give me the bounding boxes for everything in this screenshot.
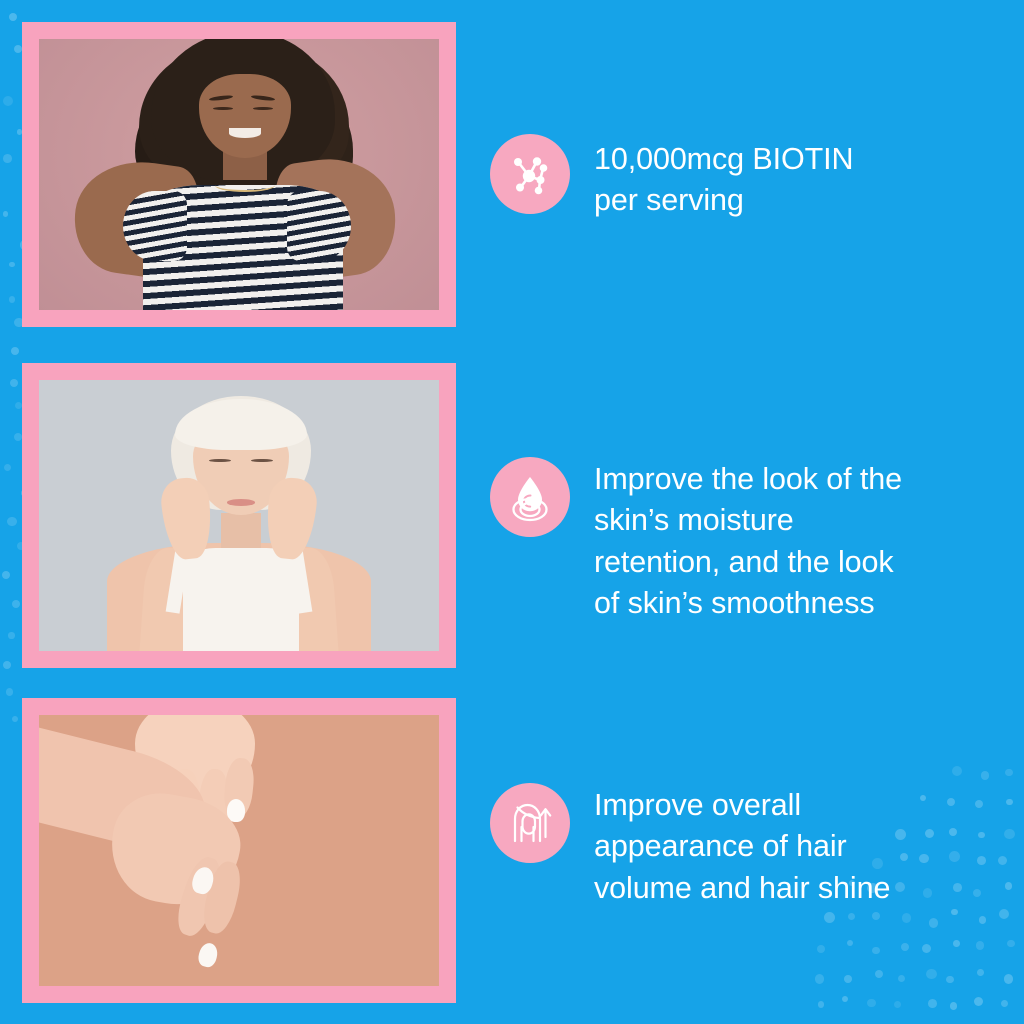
decorative-dot [1001,1000,1008,1007]
decorative-dot [928,999,937,1008]
benefit-text-skin-moisture: Improve the look of the skin’s moisture … [594,457,902,625]
decorative-dot [977,856,986,865]
decorative-dot [923,888,932,897]
decorative-dot [818,1001,824,1007]
photo-mature-woman-skin [39,380,439,651]
benefit-row-hair-volume: Improve overall appearance of hair volum… [490,783,890,909]
decorative-dot [919,854,928,863]
decorative-dot [902,913,911,922]
decorative-dot [3,96,13,106]
decorative-dot [975,800,983,808]
decorative-dot [1007,940,1014,947]
decorative-dot [979,916,987,924]
decorative-dot [14,45,22,53]
decorative-dot [901,943,910,952]
decorative-dot [974,997,983,1006]
decorative-dot [2,571,10,579]
decorative-dot [977,969,984,976]
decorative-dot [976,941,984,949]
decorative-dot [8,632,14,638]
decorative-dot [952,766,962,776]
decorative-dot [3,154,12,163]
decorative-dot [920,795,927,802]
decorative-dot [894,1001,901,1008]
decorative-dot [15,402,22,409]
decorative-dot [872,912,880,920]
benefit-text-hair-volume: Improve overall appearance of hair volum… [594,783,890,909]
decorative-dot [12,600,21,609]
decorative-dot [951,909,957,915]
benefit-row-skin-moisture: Improve the look of the skin’s moisture … [490,457,902,625]
photo-frame-2 [22,363,456,668]
decorative-dot [953,883,962,892]
decorative-dot [1006,799,1012,805]
decorative-dot [3,661,11,669]
decorative-dot [867,999,875,1007]
decorative-dot [817,945,825,953]
photo-frame-3 [22,698,456,1003]
decorative-dot [950,1002,958,1010]
decorative-dot [11,347,19,355]
decorative-dot [898,975,905,982]
decorative-dot [947,798,955,806]
decorative-dot [926,969,937,980]
water-drop-icon-circle [490,457,570,537]
decorative-dot [998,856,1008,866]
decorative-dot [973,889,981,897]
decorative-dot [1005,882,1012,889]
decorative-dot [872,947,880,955]
decorative-dot [824,912,835,923]
decorative-dot [999,909,1009,919]
decorative-dot [949,851,960,862]
benefit-text-biotin: 10,000mcg BIOTIN per serving [594,134,853,222]
decorative-dot [925,829,934,838]
decorative-dot [1004,829,1015,840]
decorative-dot [1004,974,1013,983]
hair-volume-icon [504,797,556,849]
photo-curly-hair-woman [39,39,439,310]
molecule-icon [505,149,555,199]
decorative-dot [929,918,939,928]
decorative-dot [9,262,14,267]
decorative-dot [7,517,17,527]
decorative-dot [949,828,957,836]
decorative-dot [4,464,11,471]
water-drop-icon [504,471,556,523]
decorative-dot [900,853,908,861]
decorative-dot [844,975,852,983]
decorative-dot [895,882,905,892]
hair-volume-icon-circle [490,783,570,863]
decorative-dot [847,940,853,946]
decorative-dot [10,379,18,387]
decorative-dot [9,296,16,303]
decorative-dot [14,433,22,441]
decorative-dot [3,211,9,217]
decorative-dot [1005,769,1012,776]
decorative-dot [842,996,849,1003]
photo-frame-1 [22,22,456,327]
decorative-dot [12,716,18,722]
benefit-row-biotin: 10,000mcg BIOTIN per serving [490,134,853,222]
decorative-dot [895,829,906,840]
decorative-dot [946,976,953,983]
decorative-dot [815,974,825,984]
decorative-dot [978,832,985,839]
decorative-dot [9,13,17,21]
decorative-dot [953,940,959,946]
decorative-dot [848,913,855,920]
decorative-dot [6,688,13,695]
decorative-dot [922,944,931,953]
photo-hands-nails [39,715,439,986]
decorative-dot [981,771,989,779]
molecule-icon-circle [490,134,570,214]
decorative-dot [875,970,883,978]
